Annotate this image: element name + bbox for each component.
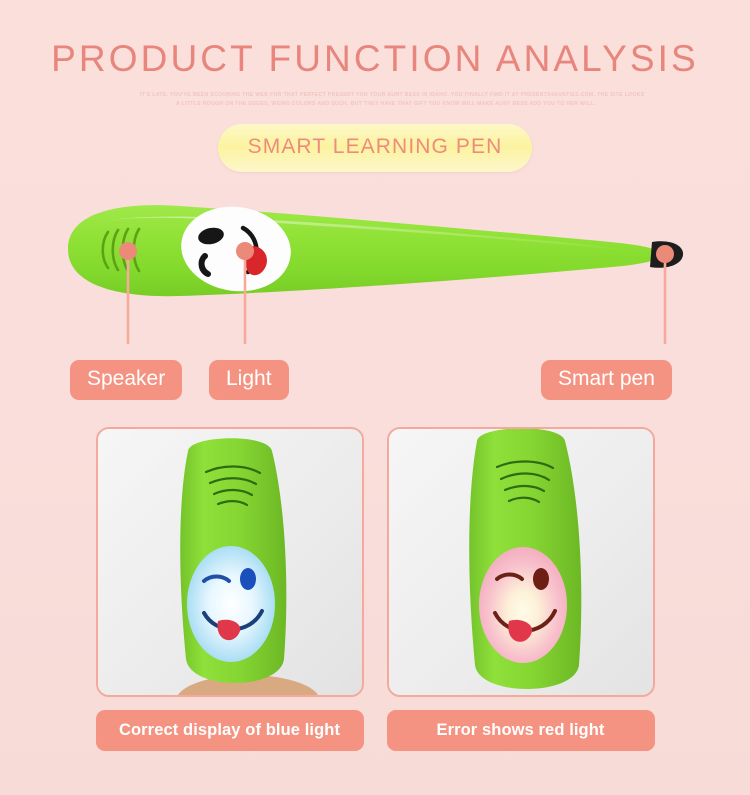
subtitle-line-1: IT'S LATE. YOU'VE BEEN SCOURING THE WEB … — [140, 91, 610, 101]
callout-label-speaker[interactable]: Speaker — [70, 360, 182, 400]
caption-red-light: Error shows red light — [387, 710, 655, 751]
photo-cards: Correct display of blue light — [0, 427, 750, 751]
pen-body — [68, 206, 660, 297]
subtitle-text: IT'S LATE. YOU'VE BEEN SCOURING THE WEB … — [0, 91, 750, 111]
infographic-page: PRODUCT FUNCTION ANALYSIS IT'S LATE. YOU… — [0, 0, 750, 795]
callout-label-light[interactable]: Light — [209, 360, 289, 400]
header: PRODUCT FUNCTION ANALYSIS IT'S LATE. YOU… — [0, 0, 750, 110]
callout-label-smart-pen[interactable]: Smart pen — [541, 360, 672, 400]
badge-container: SMART LEARNING PEN — [0, 124, 750, 172]
pen-red-light-photo — [387, 427, 655, 697]
light-panel — [479, 547, 567, 663]
light-panel — [187, 546, 275, 662]
pen-blue-light-photo — [96, 427, 364, 697]
caption-blue-light: Correct display of blue light — [96, 710, 364, 751]
callout-dot-speaker — [119, 242, 137, 260]
page-title: PRODUCT FUNCTION ANALYSIS — [0, 38, 750, 81]
product-name-badge: SMART LEARNING PEN — [218, 124, 533, 172]
card-blue-light: Correct display of blue light — [96, 427, 364, 751]
subtitle-line-2: A LITTLE ROUGH ON THE EDGES, WEIRD COLOR… — [140, 100, 610, 110]
card-red-light: Error shows red light — [387, 427, 655, 751]
callout-dot-smartpen — [656, 245, 674, 263]
callout-dot-light — [236, 242, 254, 260]
